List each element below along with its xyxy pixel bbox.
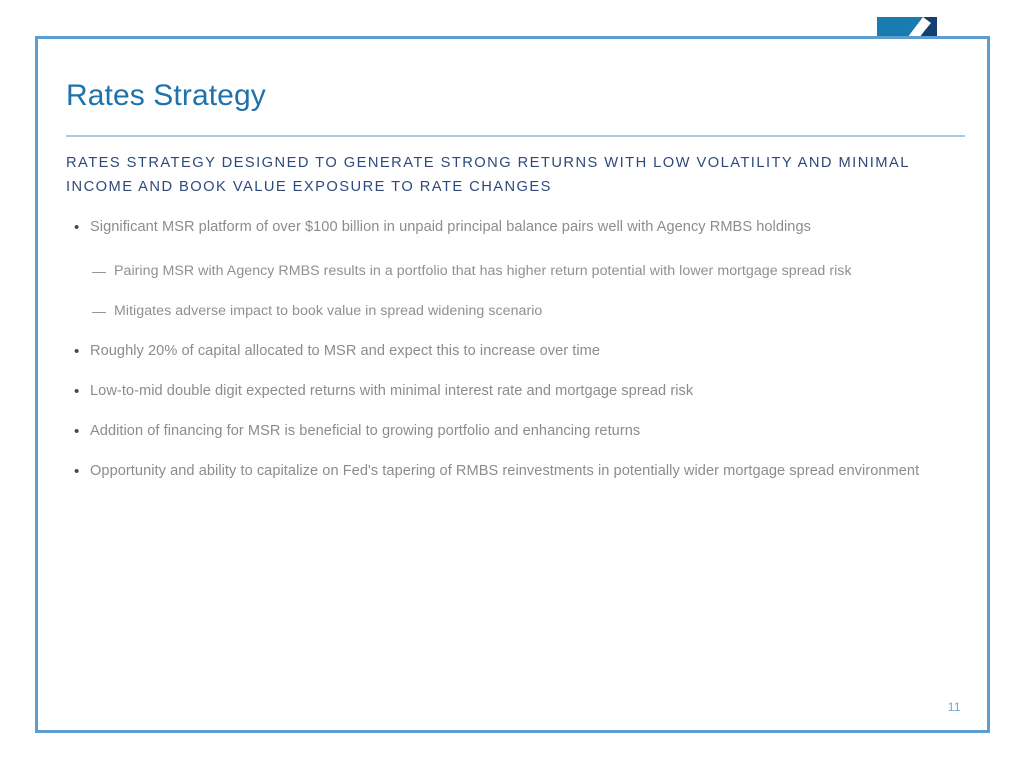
bullet-dash-icon: — xyxy=(92,301,106,322)
list-item-text: Mitigates adverse impact to book value i… xyxy=(114,301,971,322)
list-item-text: Roughly 20% of capital allocated to MSR … xyxy=(90,341,971,362)
list-item-text: Significant MSR platform of over $100 bi… xyxy=(90,217,971,238)
bullet-list: • Significant MSR platform of over $100 … xyxy=(66,217,971,501)
list-item-text: Pairing MSR with Agency RMBS results in … xyxy=(114,261,971,282)
bullet-dash-icon: — xyxy=(92,261,106,282)
slide-canvas: Rates Strategy Rates strategy designed t… xyxy=(0,0,1024,768)
list-item: • Low-to-mid double digit expected retur… xyxy=(66,381,971,402)
bullet-dot-icon: • xyxy=(74,461,79,482)
bullet-dot-icon: • xyxy=(74,341,79,362)
slide-headline: Rates strategy designed to generate stro… xyxy=(66,151,966,199)
list-item: • Roughly 20% of capital allocated to MS… xyxy=(66,341,971,362)
page-number: 11 xyxy=(948,700,961,714)
slide-content-frame: Rates Strategy Rates strategy designed t… xyxy=(35,36,990,733)
list-item: — Mitigates adverse impact to book value… xyxy=(66,301,971,322)
bullet-dot-icon: • xyxy=(74,421,79,442)
list-item: • Significant MSR platform of over $100 … xyxy=(66,217,971,238)
list-item-text: Addition of financing for MSR is benefic… xyxy=(90,421,971,442)
bullet-dot-icon: • xyxy=(74,217,79,238)
bullet-dot-icon: • xyxy=(74,381,79,402)
list-item: — Pairing MSR with Agency RMBS results i… xyxy=(66,261,971,282)
page-title: Rates Strategy xyxy=(66,79,266,113)
list-item: • Opportunity and ability to capitalize … xyxy=(66,461,971,482)
list-item: • Addition of financing for MSR is benef… xyxy=(66,421,971,442)
title-divider xyxy=(66,135,965,137)
list-item-text: Low-to-mid double digit expected returns… xyxy=(90,381,971,402)
list-item-text: Opportunity and ability to capitalize on… xyxy=(90,461,971,482)
